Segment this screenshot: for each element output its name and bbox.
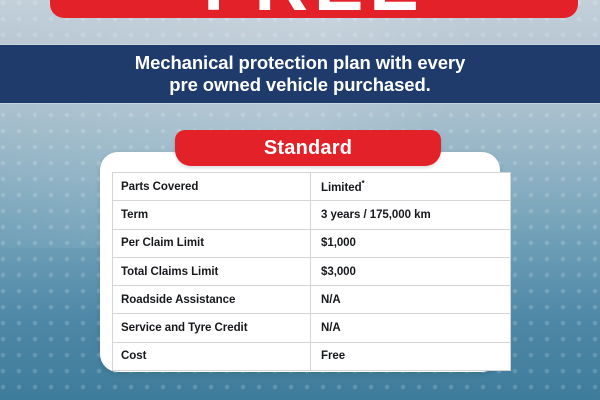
- table-row: CostFree: [113, 342, 511, 370]
- plan-spec-table: Parts CoveredLimited*Term3 years / 175,0…: [112, 172, 511, 371]
- plan-tier-label: Standard: [264, 137, 352, 160]
- subtitle-band: Mechanical protection plan with every pr…: [0, 45, 600, 103]
- spec-value: Limited*: [311, 173, 511, 201]
- table-row: Roadside AssistanceN/A: [113, 286, 511, 314]
- free-headline-banner: FREE: [50, 0, 578, 18]
- plan-spec-table-body: Parts CoveredLimited*Term3 years / 175,0…: [113, 173, 511, 371]
- spec-value-text: N/A: [321, 294, 341, 306]
- table-row: Per Claim Limit$1,000: [113, 229, 511, 257]
- spec-value: $1,000: [311, 229, 511, 257]
- table-row: Service and Tyre CreditN/A: [113, 314, 511, 342]
- spec-value-text: $1,000: [321, 237, 356, 249]
- spec-value-text: Limited: [321, 182, 362, 194]
- spec-value-text: $3,000: [321, 266, 356, 278]
- footnote-marker: *: [362, 179, 365, 188]
- spec-value: $3,000: [311, 257, 511, 285]
- spec-value: Free: [311, 342, 511, 370]
- table-row: Parts CoveredLimited*: [113, 173, 511, 201]
- spec-label: Term: [113, 201, 311, 229]
- spec-value-text: 3 years / 175,000 km: [321, 209, 431, 221]
- spec-value: N/A: [311, 314, 511, 342]
- spec-label: Service and Tyre Credit: [113, 314, 311, 342]
- spec-label: Per Claim Limit: [113, 229, 311, 257]
- plan-tier-badge: Standard: [175, 130, 441, 166]
- free-headline-text: FREE: [50, 0, 578, 18]
- table-row: Term3 years / 175,000 km: [113, 201, 511, 229]
- table-row: Total Claims Limit$3,000: [113, 257, 511, 285]
- spec-value-text: Free: [321, 350, 345, 362]
- subtitle-text: Mechanical protection plan with every pr…: [115, 52, 485, 96]
- spec-label: Roadside Assistance: [113, 286, 311, 314]
- spec-value-text: N/A: [321, 322, 341, 334]
- promo-poster: FREE Mechanical protection plan with eve…: [0, 0, 600, 400]
- spec-label: Parts Covered: [113, 173, 311, 201]
- spec-value: N/A: [311, 286, 511, 314]
- spec-label: Total Claims Limit: [113, 257, 311, 285]
- spec-label: Cost: [113, 342, 311, 370]
- spec-value: 3 years / 175,000 km: [311, 201, 511, 229]
